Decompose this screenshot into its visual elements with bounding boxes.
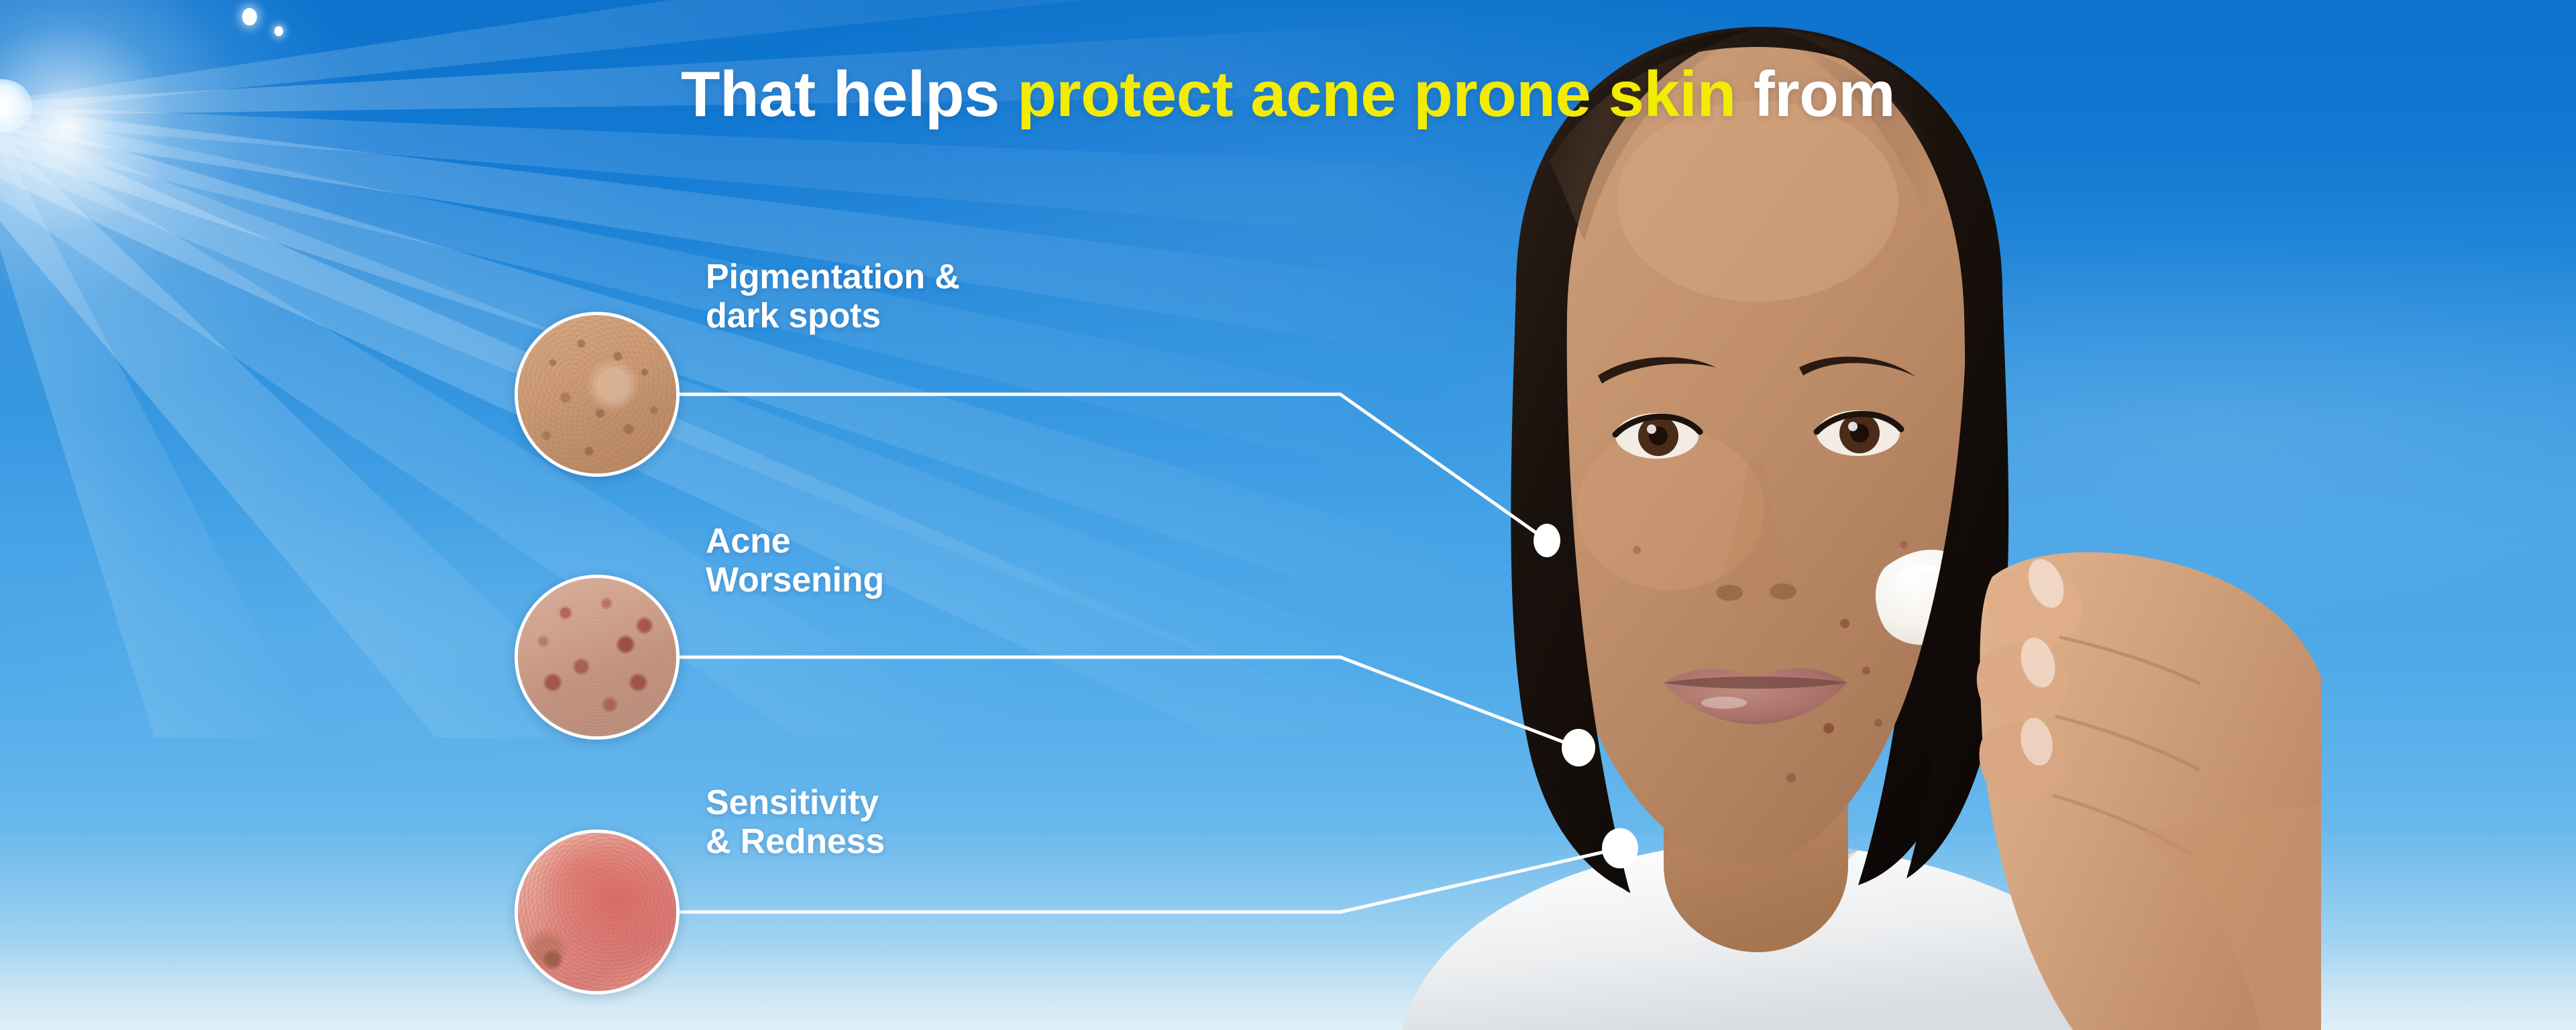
banner-root: That helps protect acne prone skin from …: [0, 0, 2576, 1030]
callout-connectors: [0, 0, 2576, 1030]
concern-label-acne-worsening: Acne Worsening: [706, 522, 884, 599]
headline-part-white-1: That helps: [681, 58, 1017, 130]
headline-part-yellow: protect acne prone skin: [1017, 58, 1735, 130]
headline-part-white-2: from: [1736, 58, 1896, 130]
acne-skin-image: [518, 578, 676, 736]
connector-line-pigmentation: [678, 394, 1547, 540]
acne-skin-thumbnail[interactable]: [515, 575, 680, 740]
concern-label-sensitivity-redness: Sensitivity & Redness: [706, 783, 885, 861]
callout-dot-cheek-upper: [1562, 729, 1595, 766]
callout-dot-cheek-lower: [1602, 828, 1638, 868]
callout-dot-forehead-temple: [1534, 524, 1560, 557]
pigmentation-skin-thumbnail[interactable]: [515, 312, 680, 477]
pigmentation-skin-image: [518, 315, 676, 473]
redness-skin-image: [518, 833, 676, 991]
connector-line-acne: [678, 657, 1578, 748]
redness-skin-thumbnail[interactable]: [515, 829, 680, 994]
page-headline: That helps protect acne prone skin from: [0, 62, 2576, 127]
concern-label-pigmentation: Pigmentation & dark spots: [706, 257, 960, 335]
